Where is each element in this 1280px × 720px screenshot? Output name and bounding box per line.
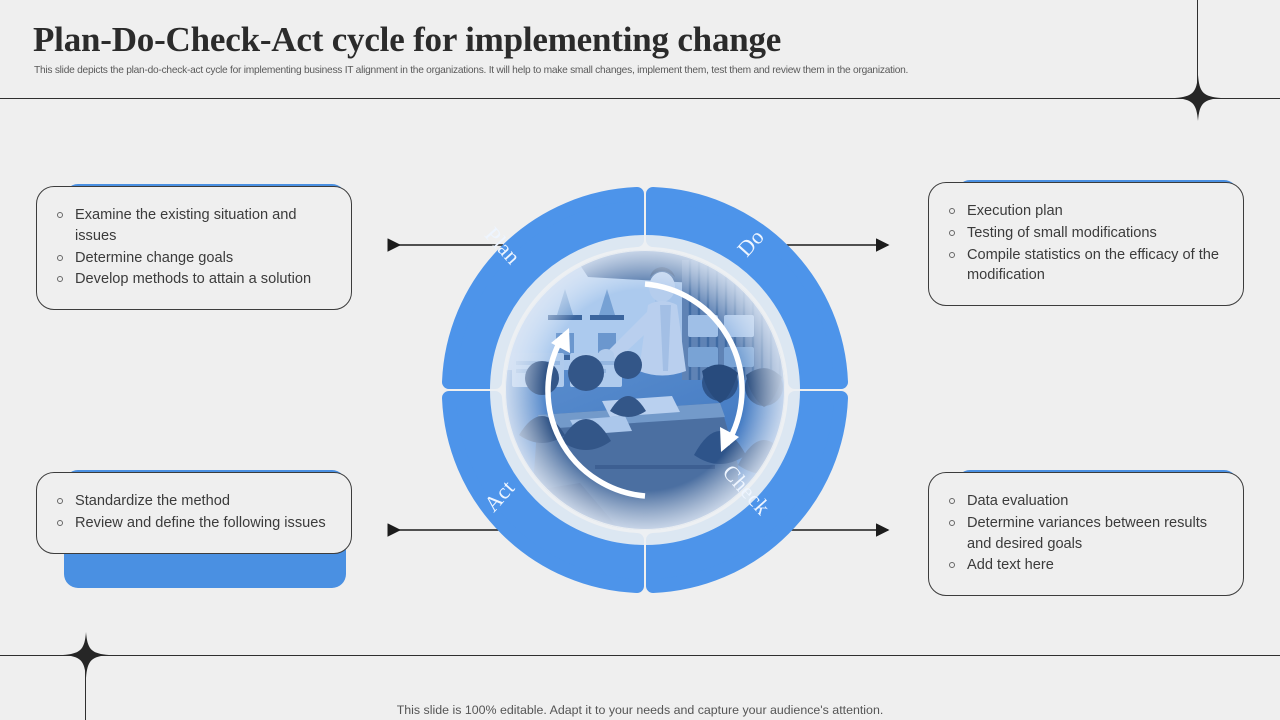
list-item-label: Compile statistics on the efficacy of th… (967, 247, 1219, 284)
list-item: Add text here (941, 555, 1229, 576)
bullet-circle-icon (949, 498, 955, 504)
pdca-cycle-diagram: Plan Do Check Act (420, 165, 870, 615)
list-item-label: Add text here (967, 557, 1054, 573)
content-card-check[interactable]: Data evaluation Determine variances betw… (928, 464, 1244, 588)
list-item: Execution plan (941, 201, 1229, 222)
list-item: Compile statistics on the efficacy of th… (941, 245, 1229, 287)
list-item-label: Develop methods to attain a solution (75, 271, 311, 287)
card-body: Standardize the method Review and define… (36, 472, 352, 554)
slide-canvas: Plan-Do-Check-Act cycle for implementing… (0, 0, 1280, 720)
bullet-circle-icon (949, 230, 955, 236)
list-item-label: Testing of small modifications (967, 225, 1157, 241)
content-card-do[interactable]: Execution plan Testing of small modifica… (928, 174, 1244, 298)
list-item: Testing of small modifications (941, 223, 1229, 244)
bullet-circle-icon (57, 276, 63, 282)
list-item: Data evaluation (941, 491, 1229, 512)
list-item-label: Standardize the method (75, 493, 230, 509)
list-item-label: Review and define the following issues (75, 515, 326, 531)
card-body: Execution plan Testing of small modifica… (928, 182, 1244, 306)
list-item-label: Determine change goals (75, 250, 233, 266)
header-divider-line (0, 98, 1280, 99)
sparkle-star-icon-top-right (1175, 75, 1221, 121)
list-item-label: Data evaluation (967, 493, 1068, 509)
footer-divider-line (0, 655, 1280, 656)
page-title: Plan-Do-Check-Act cycle for implementing… (33, 20, 781, 60)
bullet-list: Examine the existing situation and issue… (49, 205, 337, 290)
bullet-circle-icon (57, 520, 63, 526)
bullet-list: Execution plan Testing of small modifica… (941, 201, 1229, 286)
list-item-label: Determine variances between results and … (967, 515, 1207, 552)
content-card-plan[interactable]: Examine the existing situation and issue… (36, 178, 352, 296)
list-item: Develop methods to attain a solution (49, 269, 337, 290)
list-item: Review and define the following issues (49, 513, 337, 534)
list-item: Determine change goals (49, 248, 337, 269)
bullet-circle-icon (57, 255, 63, 261)
bullet-list: Standardize the method Review and define… (49, 491, 337, 534)
bullet-circle-icon (57, 498, 63, 504)
card-body: Data evaluation Determine variances betw… (928, 472, 1244, 596)
content-card-act[interactable]: Standardize the method Review and define… (36, 464, 352, 582)
list-item: Determine variances between results and … (941, 513, 1229, 555)
list-item: Standardize the method (49, 491, 337, 512)
page-subtitle: This slide depicts the plan-do-check-act… (34, 65, 1164, 76)
bullet-circle-icon (949, 562, 955, 568)
bullet-circle-icon (949, 520, 955, 526)
list-item-label: Examine the existing situation and issue… (75, 207, 296, 244)
bullet-circle-icon (949, 208, 955, 214)
list-item-label: Execution plan (967, 203, 1063, 219)
footer-note: This slide is 100% editable. Adapt it to… (0, 703, 1280, 717)
card-body: Examine the existing situation and issue… (36, 186, 352, 310)
sparkle-star-icon-bottom-left (63, 632, 109, 678)
bullet-list: Data evaluation Determine variances betw… (941, 491, 1229, 576)
bullet-circle-icon (57, 212, 63, 218)
list-item: Examine the existing situation and issue… (49, 205, 337, 247)
bullet-circle-icon (949, 252, 955, 258)
